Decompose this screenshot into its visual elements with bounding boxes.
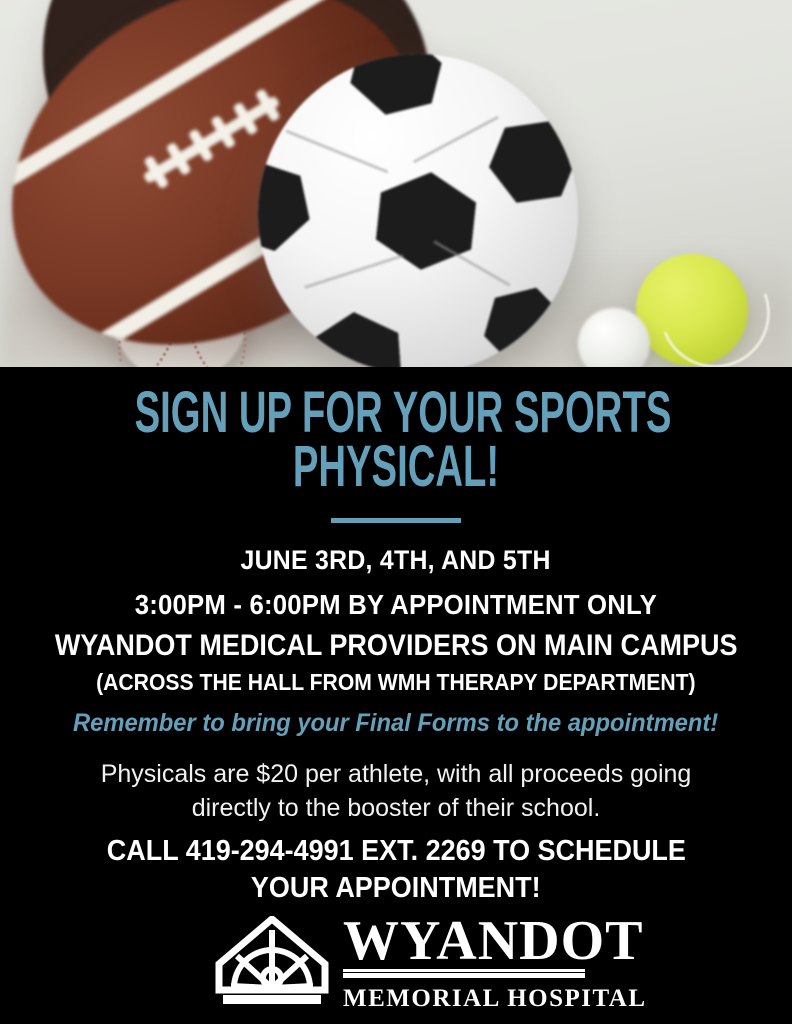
forms-reminder: Remember to bring your Final Forms to th… <box>0 709 792 738</box>
call-to-action: CALL 419-294-4991 EXT. 2269 TO SCHEDULE … <box>0 833 792 907</box>
soccer-patch <box>311 309 403 367</box>
soccer-seam <box>413 116 499 164</box>
hospital-logo: WYANDOT MEMORIAL HOSPITAL <box>215 912 585 1012</box>
forms-reminder-text: Remember to bring your Final Forms to th… <box>73 709 718 738</box>
event-location-note: (ACROSS THE HALL FROM WMH THERAPY DEPART… <box>0 669 792 696</box>
soccer-seam <box>285 130 388 174</box>
event-time-text: 3:00PM - 6:00PM BY APPOINTMENT ONLY <box>135 589 657 621</box>
event-time: 3:00PM - 6:00PM BY APPOINTMENT ONLY <box>0 589 792 621</box>
call-to-action-line-2: YOUR APPOINTMENT! <box>251 870 541 907</box>
event-dates: JUNE 3RD, 4TH, AND 5TH <box>0 545 792 576</box>
soccer-patch <box>480 107 578 218</box>
call-to-action-line-1: CALL 419-294-4991 EXT. 2269 TO SCHEDULE <box>106 833 685 870</box>
sports-balls-photo <box>0 0 792 367</box>
headline-line-2: PHYSICAL! <box>135 440 658 494</box>
content-panel: SIGN UP FOR YOUR SPORTS PHYSICAL! JUNE 3… <box>0 367 792 1024</box>
event-location-note-text: (ACROSS THE HALL FROM WMH THERAPY DEPART… <box>96 669 696 696</box>
event-dates-text: JUNE 3RD, 4TH, AND 5TH <box>241 545 551 576</box>
soccer-seam <box>433 240 511 287</box>
soccer-patch <box>258 152 315 259</box>
logo-tagline: MEMORIAL HOSPITAL <box>343 984 585 1014</box>
event-location-text: WYANDOT MEDICAL PROVIDERS ON MAIN CAMPUS <box>55 629 738 663</box>
event-location: WYANDOT MEDICAL PROVIDERS ON MAIN CAMPUS <box>0 629 792 663</box>
pricing-info: Physicals are $20 per athlete, with all … <box>60 757 732 825</box>
sports-physical-flyer: SIGN UP FOR YOUR SPORTS PHYSICAL! JUNE 3… <box>0 0 792 1024</box>
title-divider <box>331 518 461 523</box>
soccer-ball-icon <box>258 54 578 367</box>
logo-wordmark: WYANDOT MEMORIAL HOSPITAL <box>343 912 585 1014</box>
gable-window-icon <box>215 916 329 1008</box>
soccer-patch <box>345 54 447 125</box>
headline-line-1: SIGN UP FOR YOUR SPORTS <box>135 386 658 440</box>
logo-name: WYANDOT <box>343 912 585 970</box>
soccer-seam <box>304 254 404 289</box>
logo-rule <box>343 972 585 979</box>
page-title: SIGN UP FOR YOUR SPORTS PHYSICAL! <box>0 386 792 494</box>
